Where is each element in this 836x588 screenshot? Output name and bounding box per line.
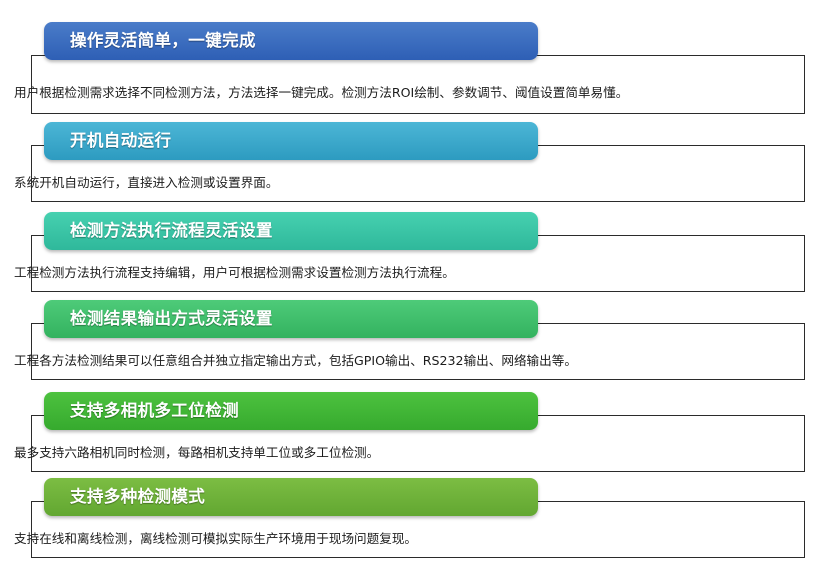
feature-ribbon[interactable]: 支持多种检测模式 [44,478,538,516]
feature-ribbon[interactable]: 操作灵活简单，一键完成 [44,22,538,60]
feature-description: 工程各方法检测结果可以任意组合并独立指定输出方式，包括GPIO输出、RS232输… [14,352,824,369]
feature-list-page: 操作灵活简单，一键完成用户根据检测需求选择不同检测方法，方法选择一键完成。检测方… [0,0,836,588]
feature-ribbon[interactable]: 支持多相机多工位检测 [44,392,538,430]
feature-title: 检测结果输出方式灵活设置 [70,311,273,328]
feature-ribbon[interactable]: 检测结果输出方式灵活设置 [44,300,538,338]
feature-title: 操作灵活简单，一键完成 [70,33,256,50]
feature-title: 支持多相机多工位检测 [70,403,239,420]
feature-description: 用户根据检测需求选择不同检测方法，方法选择一键完成。检测方法ROI绘制、参数调节… [14,84,824,101]
feature-title: 开机自动运行 [70,133,171,150]
feature-description: 最多支持六路相机同时检测，每路相机支持单工位或多工位检测。 [14,444,824,461]
feature-description: 工程检测方法执行流程支持编辑，用户可根据检测需求设置检测方法执行流程。 [14,264,824,281]
feature-ribbon[interactable]: 开机自动运行 [44,122,538,160]
feature-description: 系统开机自动运行，直接进入检测或设置界面。 [14,174,824,191]
feature-ribbon[interactable]: 检测方法执行流程灵活设置 [44,212,538,250]
feature-description: 支持在线和离线检测，离线检测可模拟实际生产环境用于现场问题复现。 [14,530,824,547]
feature-title: 支持多种检测模式 [70,489,205,506]
feature-title: 检测方法执行流程灵活设置 [70,223,273,240]
